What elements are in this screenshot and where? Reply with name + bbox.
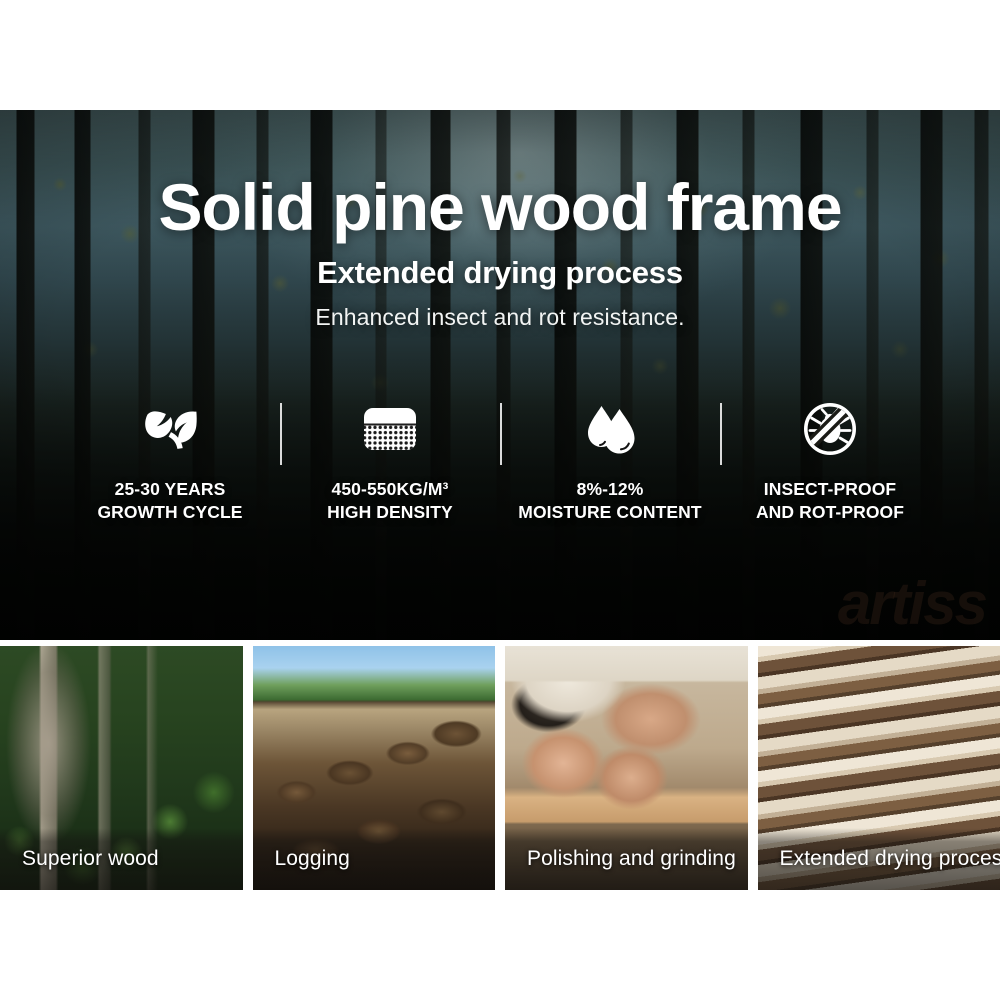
density-mattress-icon [362, 400, 418, 458]
feature-high-density-line2: HIGH DENSITY [327, 501, 453, 524]
insect-proof-icon [803, 400, 857, 458]
feature-growth-cycle-line1: 25-30 YEARS [115, 479, 226, 499]
process-gallery: Superior wood Logging Polishing and grin… [0, 646, 1000, 890]
feature-moisture-content-label: 8%-12% MOISTURE CONTENT [518, 478, 701, 524]
page-subtitle: Extended drying process [0, 255, 1000, 291]
water-droplets-icon [581, 400, 639, 458]
page-title: Solid pine wood frame [0, 174, 1000, 241]
gallery-card-superior-wood[interactable]: Superior wood [0, 646, 243, 890]
feature-moisture-content-line1: 8%-12% [577, 479, 644, 499]
gallery-caption: Polishing and grinding [505, 828, 748, 890]
gallery-card-logging[interactable]: Logging [253, 646, 496, 890]
hero-text-block: Solid pine wood frame Extended drying pr… [0, 110, 1000, 331]
gallery-caption: Logging [253, 828, 496, 890]
feature-moisture-content: 8%-12% MOISTURE CONTENT [500, 400, 720, 524]
feature-growth-cycle-label: 25-30 YEARS GROWTH CYCLE [97, 478, 242, 524]
feature-specs-row: 25-30 YEARS GROWTH CYCLE [60, 400, 940, 524]
brand-watermark: artiss [838, 574, 986, 634]
leaf-icon [141, 400, 199, 458]
gallery-card-polishing-and-grinding[interactable]: Polishing and grinding [505, 646, 748, 890]
page-tagline: Enhanced insect and rot resistance. [0, 304, 1000, 331]
feature-insect-proof: INSECT-PROOF AND ROT-PROOF [720, 400, 940, 524]
hero-banner: artiss Solid pine wood frame Extended dr… [0, 110, 1000, 640]
feature-high-density: 450-550KG/M³ HIGH DENSITY [280, 400, 500, 524]
gallery-caption: Superior wood [0, 828, 243, 890]
feature-growth-cycle-line2: GROWTH CYCLE [97, 501, 242, 524]
feature-insect-proof-line1: INSECT-PROOF [764, 479, 896, 499]
feature-insect-proof-line2: AND ROT-PROOF [756, 501, 904, 524]
feature-high-density-line1: 450-550KG/M³ [332, 479, 449, 499]
feature-growth-cycle: 25-30 YEARS GROWTH CYCLE [60, 400, 280, 524]
product-feature-page: artiss Solid pine wood frame Extended dr… [0, 0, 1000, 1000]
feature-high-density-label: 450-550KG/M³ HIGH DENSITY [327, 478, 453, 524]
gallery-caption: Extended drying process [758, 828, 1000, 890]
feature-insect-proof-label: INSECT-PROOF AND ROT-PROOF [756, 478, 904, 524]
gallery-card-extended-drying-process[interactable]: Extended drying process [758, 646, 1000, 890]
feature-moisture-content-line2: MOISTURE CONTENT [518, 501, 701, 524]
